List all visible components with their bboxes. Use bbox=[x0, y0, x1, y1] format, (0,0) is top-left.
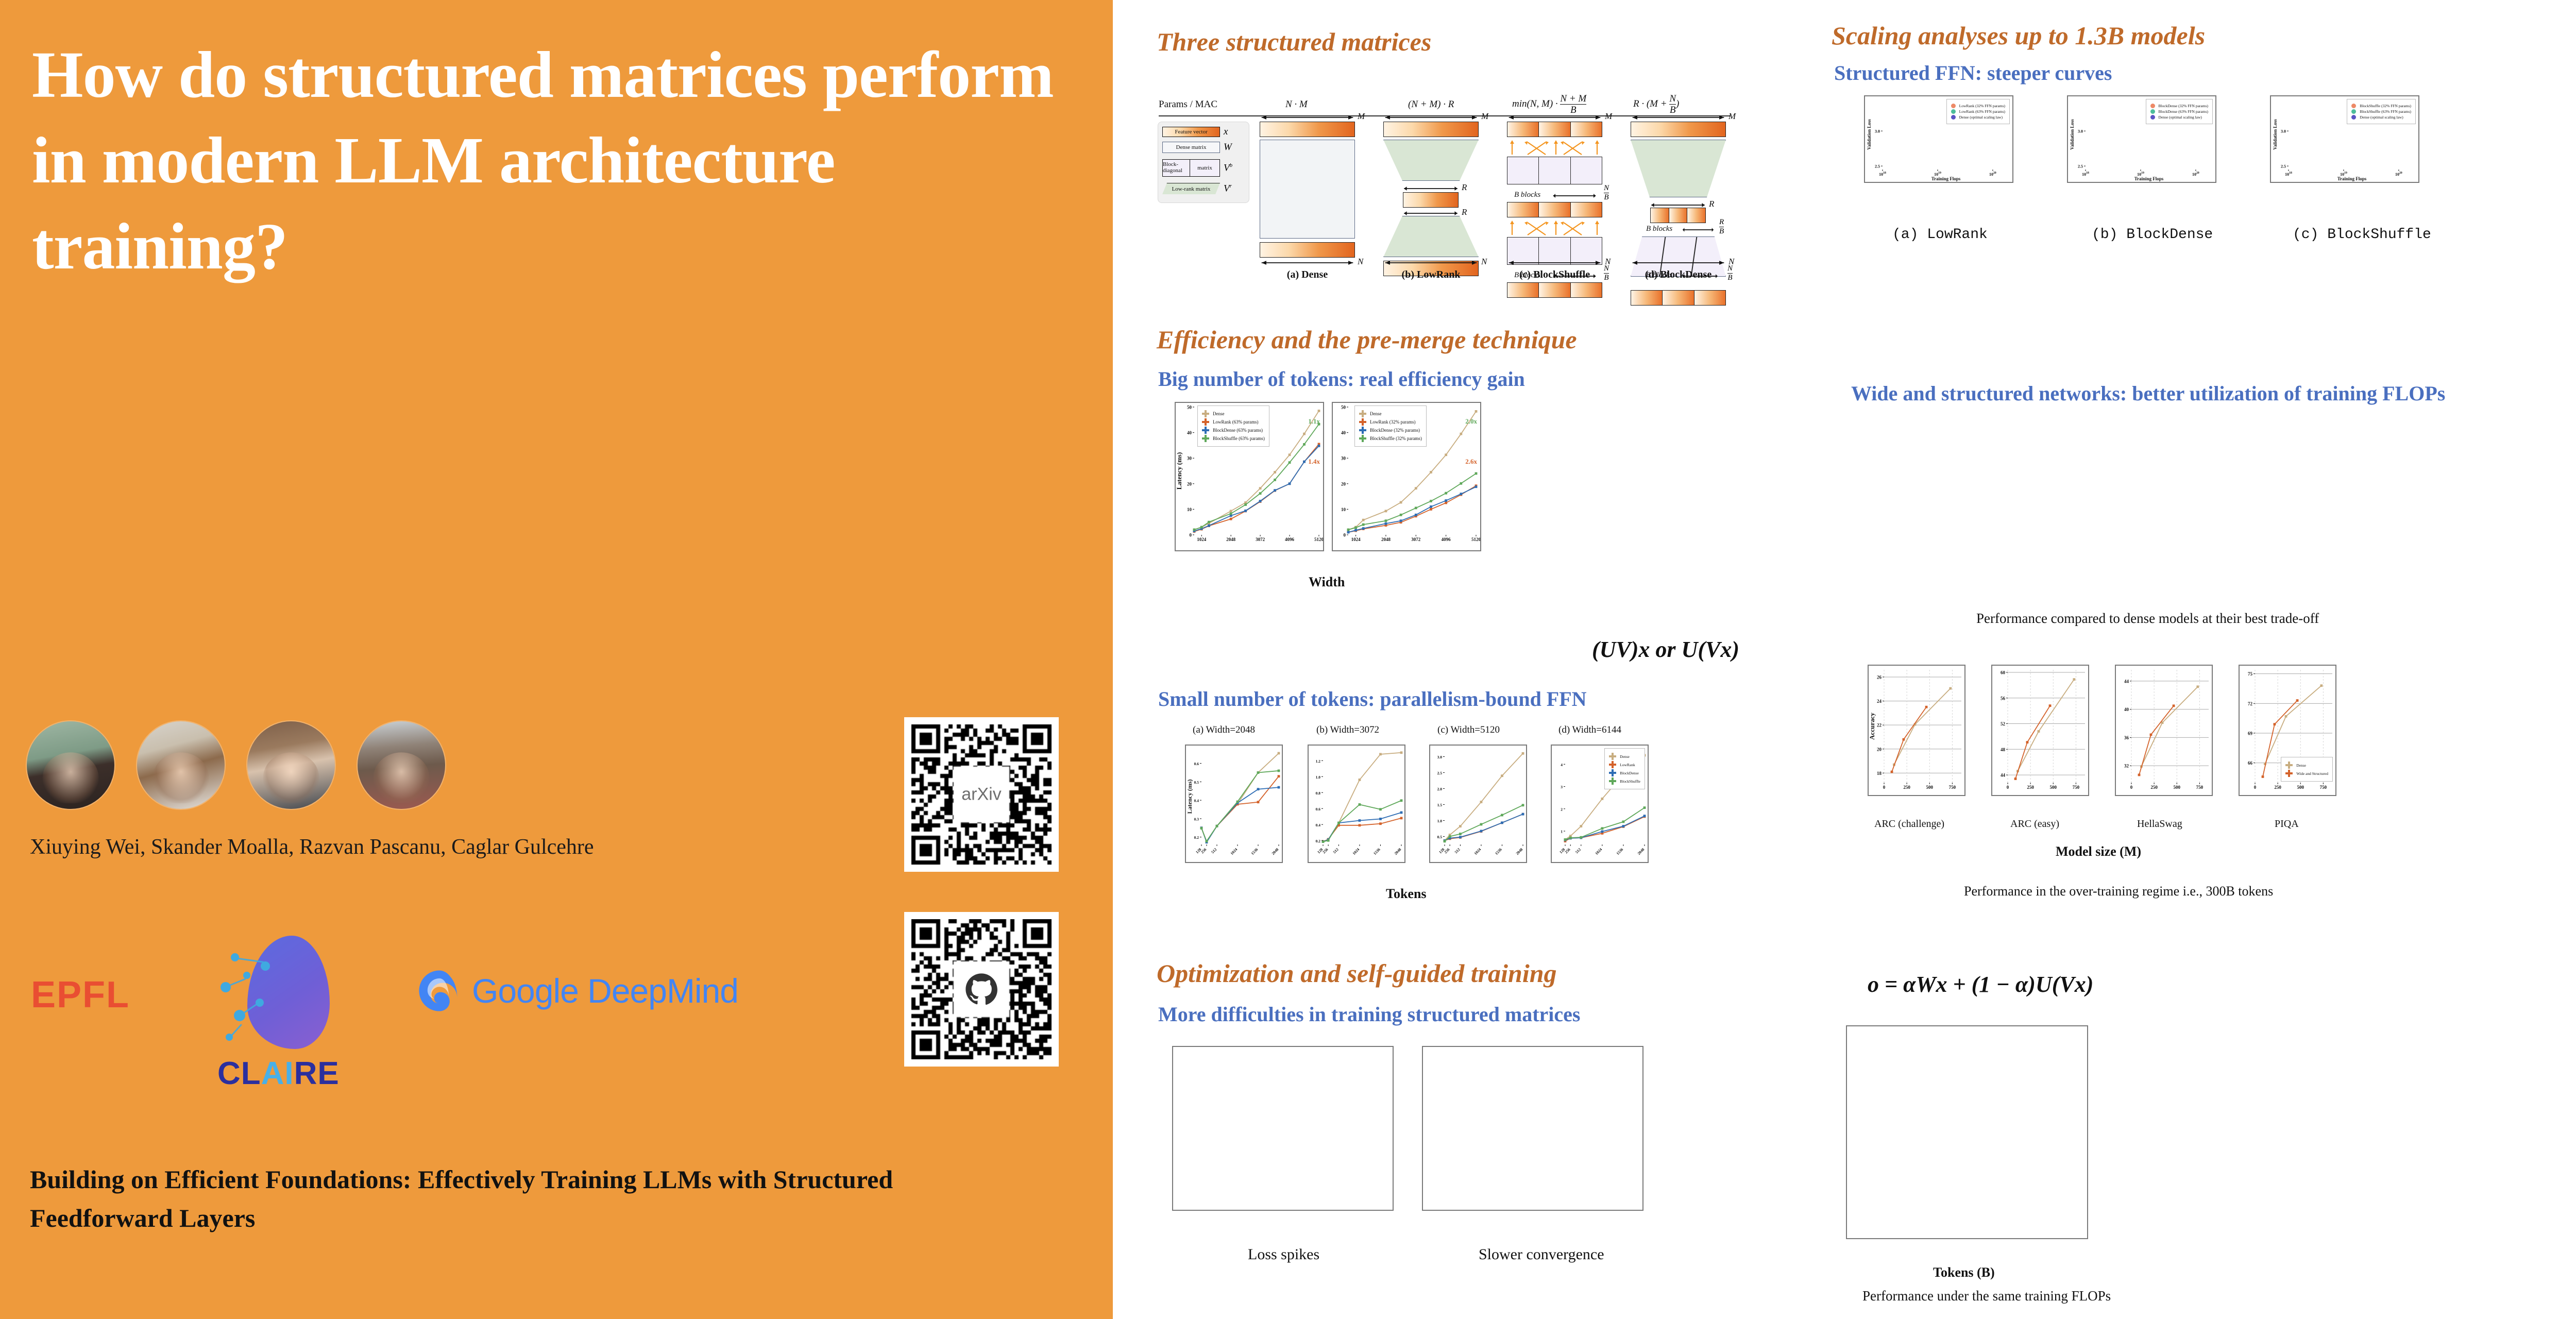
svg-text:4096: 4096 bbox=[1442, 537, 1451, 542]
qr-code-arxiv[interactable]: arXiv bbox=[904, 717, 1059, 872]
axis-label-tokens-b: Tokens (B) bbox=[1933, 1265, 1995, 1280]
caption-lowrank: (b) LowRank bbox=[1383, 269, 1479, 281]
legend-marker bbox=[1609, 753, 1616, 760]
svg-text:500: 500 bbox=[2049, 785, 2057, 790]
legend-marker bbox=[1359, 418, 1366, 426]
svg-text:Latency (ms): Latency (ms) bbox=[1176, 452, 1183, 490]
svg-text:256: 256 bbox=[1321, 847, 1329, 854]
legend-item: Dense bbox=[1359, 410, 1422, 417]
svg-text:10: 10 bbox=[1187, 507, 1192, 512]
axis-label-width: Width bbox=[1309, 574, 1345, 590]
svg-text:32: 32 bbox=[2124, 764, 2129, 769]
svg-text:50: 50 bbox=[1187, 405, 1192, 410]
svg-text:Accuracy: Accuracy bbox=[1869, 713, 1876, 740]
chart-legend: DenseLowRank (32% params)BlockDense (32%… bbox=[1354, 405, 1427, 447]
svg-text:3.0: 3.0 bbox=[1437, 755, 1443, 759]
svg-text:3.0: 3.0 bbox=[2078, 129, 2083, 134]
legend-marker bbox=[1202, 435, 1209, 442]
svg-text:250: 250 bbox=[2150, 785, 2158, 790]
diagram-legend: Feature vector x Dense matrix W Block-di… bbox=[1158, 122, 1249, 203]
chart-scaling-lowrank: 2.53.0101810191020Validation LossTrainin… bbox=[1864, 95, 2013, 183]
svg-text:60: 60 bbox=[2001, 670, 2006, 675]
legend-item: LowRank bbox=[1609, 761, 1640, 768]
svg-text:500: 500 bbox=[2297, 785, 2304, 790]
paper-subtitle: Building on Efficient Foundations: Effec… bbox=[30, 1160, 947, 1238]
svg-text:50: 50 bbox=[1341, 405, 1346, 410]
svg-text:Training Flops: Training Flops bbox=[2134, 176, 2164, 181]
legend-marker bbox=[2150, 115, 2155, 120]
legend-label: Dense (optimal scaling law) bbox=[2360, 115, 2403, 120]
svg-text:Latency (ms): Latency (ms) bbox=[1186, 780, 1193, 814]
legend-label: Dense bbox=[1213, 411, 1225, 416]
legend-label: LowRank (63% FFN params) bbox=[1959, 109, 2005, 114]
svg-text:250: 250 bbox=[1903, 785, 1910, 790]
left-panel: How do structured matrices perform in mo… bbox=[0, 0, 1113, 1319]
matrix-col-dense: M N bbox=[1260, 122, 1370, 258]
author-avatars bbox=[27, 721, 445, 809]
caption-hellaswag: HellaSwag bbox=[2137, 818, 2182, 830]
legend-item: Dense bbox=[1609, 753, 1640, 760]
svg-text:0.6: 0.6 bbox=[1194, 762, 1199, 766]
caption-best-tradeoff: Performance compared to dense models at … bbox=[1976, 611, 2319, 627]
subheading-structured-ffn: Structured FFN: steeper curves bbox=[1834, 61, 2112, 85]
svg-text:4: 4 bbox=[1561, 763, 1563, 767]
arxiv-badge: arXiv bbox=[957, 783, 1005, 807]
chart-legend: LowRank (32% FFN params)LowRank (63% FFN… bbox=[1946, 99, 2010, 124]
legend-item: Wide and Structured bbox=[2285, 770, 2328, 777]
legend-marker bbox=[1202, 410, 1209, 417]
chart-acc-arc-easy: 44485256600250500750 bbox=[1991, 665, 2089, 796]
svg-text:20: 20 bbox=[1877, 747, 1882, 752]
svg-text:750: 750 bbox=[2073, 785, 2080, 790]
svg-text:1024: 1024 bbox=[1473, 847, 1482, 856]
chart-loss-spikes bbox=[1172, 1046, 1394, 1211]
legend-item: BlockShuffle (63% FFN params) bbox=[2351, 109, 2411, 114]
svg-text:20: 20 bbox=[1341, 481, 1346, 486]
svg-text:2.5: 2.5 bbox=[1437, 771, 1443, 775]
legend-marker bbox=[1609, 777, 1616, 785]
section-heading-efficiency: Efficiency and the pre-merge technique bbox=[1157, 325, 1577, 354]
formula-alpha: o = αWx + (1 − α)U(Vx) bbox=[1868, 971, 2093, 997]
legend-marker bbox=[2285, 770, 2293, 777]
chart-annotation: 2.0x bbox=[1465, 417, 1477, 426]
legend-item: LowRank (32% FFN params) bbox=[1951, 104, 2005, 108]
avatar bbox=[247, 721, 335, 809]
claire-logo: CLAIRE bbox=[216, 933, 361, 1087]
legend-label: Dense (optimal scaling law) bbox=[2159, 115, 2202, 120]
svg-text:1.0: 1.0 bbox=[1437, 819, 1443, 823]
svg-text:Validation Loss: Validation Loss bbox=[1867, 119, 1872, 150]
legend-marker bbox=[1951, 109, 1956, 114]
page-title: How do structured matrices perform in mo… bbox=[32, 32, 1057, 289]
legend-label: BlockShuffle (63% params) bbox=[1213, 436, 1265, 441]
svg-text:75: 75 bbox=[2248, 671, 2253, 677]
subheading-difficulties: More difficulties in training structured… bbox=[1158, 1002, 1581, 1026]
caption-dense: (a) Dense bbox=[1260, 269, 1355, 281]
svg-text:500: 500 bbox=[2173, 785, 2180, 790]
deepmind-swirl-icon bbox=[417, 969, 462, 1013]
svg-text:36: 36 bbox=[2124, 735, 2129, 740]
svg-text:512: 512 bbox=[1332, 847, 1339, 854]
svg-text:512: 512 bbox=[1210, 847, 1217, 854]
svg-text:3.0: 3.0 bbox=[1875, 129, 1880, 134]
svg-text:1020: 1020 bbox=[2395, 172, 2402, 177]
qr-code-github[interactable] bbox=[904, 912, 1059, 1067]
chart-legend: DenseWide and Structured bbox=[2281, 757, 2333, 782]
svg-text:0.5: 0.5 bbox=[1437, 835, 1443, 839]
legend-marker bbox=[1359, 410, 1366, 417]
arxiv-label: arXiv bbox=[961, 785, 1001, 805]
legend-label: Dense (optimal scaling law) bbox=[1959, 115, 2003, 120]
subheading-big-tokens: Big number of tokens: real efficiency ga… bbox=[1158, 367, 1525, 391]
legend-label: LowRank (32% FFN params) bbox=[1959, 104, 2005, 108]
legend-label: Dense bbox=[2296, 763, 2306, 768]
chart-acc-arc-challenge: 18202224260250500750Accuracy bbox=[1868, 665, 1965, 796]
svg-text:0.3: 0.3 bbox=[1194, 817, 1199, 821]
legend-item: Dense (optimal scaling law) bbox=[2150, 115, 2208, 120]
legend-label: BlockShuffle bbox=[1620, 779, 1640, 784]
svg-text:2048: 2048 bbox=[1381, 537, 1391, 542]
cost-lowrank: (N + M) · R bbox=[1408, 99, 1454, 110]
axis-label-tokens: Tokens bbox=[1386, 886, 1427, 902]
svg-text:72: 72 bbox=[2248, 701, 2253, 706]
legend-label: LowRank bbox=[1620, 763, 1635, 767]
svg-text:750: 750 bbox=[1949, 785, 1956, 790]
caption-arc-challenge: ARC (challenge) bbox=[1874, 818, 1944, 830]
svg-text:1024: 1024 bbox=[1594, 847, 1603, 856]
legend-marker bbox=[1202, 427, 1209, 434]
legend-item: BlockDense (63% params) bbox=[1202, 427, 1265, 434]
caption-tokens-c: (c) Width=5120 bbox=[1437, 724, 1500, 736]
caption-tokens-b: (b) Width=3072 bbox=[1316, 724, 1379, 736]
claire-wordmark: CLAIRE bbox=[217, 1055, 340, 1092]
svg-text:0: 0 bbox=[2130, 785, 2133, 790]
svg-text:4096: 4096 bbox=[1285, 537, 1295, 542]
svg-text:24: 24 bbox=[1877, 699, 1882, 704]
chart-legend: BlockDense (32% FFN params)BlockDense (6… bbox=[2146, 99, 2213, 124]
legend-label: LowRank (63% params) bbox=[1213, 419, 1258, 425]
github-badge bbox=[959, 969, 1004, 1009]
legend-label: BlockDense (63% FFN params) bbox=[2159, 109, 2208, 114]
svg-text:26: 26 bbox=[1877, 674, 1882, 680]
legend-dense-matrix: Dense matrix W bbox=[1162, 142, 1232, 153]
section-heading-optimization: Optimization and self-guided training bbox=[1157, 958, 1557, 988]
svg-text:1536: 1536 bbox=[1615, 847, 1624, 856]
svg-text:69: 69 bbox=[2248, 731, 2253, 736]
svg-text:0: 0 bbox=[2007, 785, 2009, 790]
svg-text:0.2: 0.2 bbox=[1194, 835, 1199, 840]
svg-text:0: 0 bbox=[2254, 785, 2257, 790]
legend-item: BlockShuffle bbox=[1609, 777, 1640, 785]
legend-marker bbox=[2150, 109, 2155, 114]
chart-tokens-5120: 0.51.01.52.02.53.0128256512102415362048 bbox=[1429, 745, 1527, 863]
legend-item: Dense bbox=[2285, 762, 2328, 769]
legend-label: Dense bbox=[1370, 411, 1382, 416]
legend-marker bbox=[1359, 435, 1366, 442]
svg-text:2.0: 2.0 bbox=[1437, 787, 1443, 791]
avatar bbox=[27, 721, 114, 809]
svg-text:1024: 1024 bbox=[1229, 847, 1238, 856]
legend-marker bbox=[1609, 761, 1616, 768]
structured-matrices-diagram: Params / MAC N · M (N + M) · R min(N, M)… bbox=[1157, 88, 1739, 299]
chart-legend: DenseLowRankBlockDenseBlockShuffle bbox=[1604, 748, 1645, 789]
svg-text:Validation Loss: Validation Loss bbox=[2070, 119, 2075, 150]
chart-latency-63: 0102030405010242048307240965120Latency (… bbox=[1175, 402, 1324, 551]
avatar bbox=[137, 721, 225, 809]
svg-text:512: 512 bbox=[1453, 847, 1461, 854]
cost-blockshuffle: min(N, M) · N + M B bbox=[1512, 94, 1586, 115]
legend-label: BlockDense (32% FFN params) bbox=[2159, 104, 2208, 108]
chart-legend: BlockShuffle (32% FFN params)BlockShuffl… bbox=[2347, 99, 2416, 124]
svg-text:250: 250 bbox=[2274, 785, 2281, 790]
svg-text:10: 10 bbox=[1341, 507, 1346, 512]
svg-text:0.4: 0.4 bbox=[1316, 823, 1321, 827]
chart-perplexity-tokens bbox=[1846, 1025, 2088, 1239]
legend-marker bbox=[1202, 418, 1209, 426]
caption-scaling-c: (c) BlockShuffle bbox=[2293, 227, 2431, 243]
legend-feature-vector: Feature vector x bbox=[1162, 126, 1228, 138]
legend-item: LowRank (32% params) bbox=[1359, 418, 1422, 426]
caption-tokens-d: (d) Width=6144 bbox=[1558, 724, 1621, 736]
chart-annotation: 1.4x bbox=[1308, 458, 1320, 466]
svg-text:3.0: 3.0 bbox=[2281, 129, 2286, 134]
legend-label: Wide and Structured bbox=[2296, 771, 2328, 776]
svg-text:250: 250 bbox=[2027, 785, 2034, 790]
legend-low-rank: Low-rank matrix Vr bbox=[1162, 183, 1232, 194]
svg-text:1536: 1536 bbox=[1372, 847, 1381, 856]
svg-text:3072: 3072 bbox=[1256, 537, 1265, 542]
svg-text:44: 44 bbox=[2001, 773, 2006, 778]
svg-text:1018: 1018 bbox=[2285, 172, 2292, 177]
svg-text:256: 256 bbox=[1443, 847, 1450, 854]
legend-marker bbox=[1359, 427, 1366, 434]
legend-marker bbox=[2285, 762, 2293, 769]
section-heading-scaling: Scaling analyses up to 1.3B models bbox=[1832, 21, 2205, 50]
legend-label: BlockShuffle (32% params) bbox=[1370, 436, 1422, 441]
svg-text:5120: 5120 bbox=[1471, 537, 1480, 542]
subheading-wide-structured: Wide and structured networks: better uti… bbox=[1851, 381, 2445, 405]
svg-text:2048: 2048 bbox=[1393, 847, 1402, 856]
legend-item: BlockDense (32% params) bbox=[1359, 427, 1422, 434]
svg-text:1.2: 1.2 bbox=[1316, 759, 1321, 764]
svg-text:0: 0 bbox=[1883, 785, 1886, 790]
legend-marker bbox=[2351, 109, 2356, 114]
formula-uv: (UV)x or U(Vx) bbox=[1592, 636, 1739, 663]
caption-scaling-b: (b) BlockDense bbox=[2092, 227, 2213, 243]
svg-text:1: 1 bbox=[1561, 830, 1563, 834]
legend-marker bbox=[2351, 115, 2356, 120]
cost-blockdense: R · (M + N B ) bbox=[1633, 94, 1679, 115]
shuffle-arrows-icon bbox=[1507, 218, 1602, 236]
legend-label: BlockDense bbox=[1620, 771, 1639, 775]
svg-text:1536: 1536 bbox=[1494, 847, 1503, 856]
legend-label: BlockShuffle (32% FFN params) bbox=[2360, 104, 2411, 108]
svg-text:30: 30 bbox=[1187, 456, 1192, 461]
svg-text:2048: 2048 bbox=[1515, 847, 1523, 856]
svg-text:44: 44 bbox=[2124, 679, 2129, 684]
svg-text:2048: 2048 bbox=[1226, 537, 1236, 542]
svg-text:2048: 2048 bbox=[1270, 847, 1279, 856]
svg-text:1536: 1536 bbox=[1250, 847, 1259, 856]
svg-text:256: 256 bbox=[1200, 847, 1207, 854]
svg-text:20: 20 bbox=[1187, 481, 1192, 486]
svg-text:2.5: 2.5 bbox=[2281, 164, 2286, 169]
svg-text:500: 500 bbox=[1926, 785, 1933, 790]
svg-text:40: 40 bbox=[2124, 707, 2129, 712]
chart-latency-32: 01020304050102420483072409651202.0x2.6xD… bbox=[1332, 402, 1481, 551]
svg-text:5120: 5120 bbox=[1314, 537, 1323, 542]
caption-scaling-a: (a) LowRank bbox=[1892, 227, 1988, 243]
legend-item: Dense bbox=[1202, 410, 1265, 417]
svg-text:3: 3 bbox=[1561, 785, 1563, 789]
svg-text:256: 256 bbox=[1564, 847, 1571, 854]
section-heading-matrices: Three structured matrices bbox=[1157, 27, 1431, 57]
svg-text:1024: 1024 bbox=[1197, 537, 1207, 542]
svg-text:30: 30 bbox=[1341, 456, 1346, 461]
svg-text:Validation Loss: Validation Loss bbox=[2273, 119, 2278, 150]
right-panel: Three structured matrices Params / MAC N… bbox=[1113, 0, 2576, 1319]
chart-slower-convergence bbox=[1422, 1046, 1643, 1211]
caption-arc-easy: ARC (easy) bbox=[2010, 818, 2059, 830]
legend-marker bbox=[2351, 104, 2356, 108]
svg-text:0.8: 0.8 bbox=[1316, 791, 1321, 796]
deepmind-wordmark: Google DeepMind bbox=[472, 971, 738, 1010]
caption-slower-convergence: Slower convergence bbox=[1479, 1246, 1604, 1263]
chart-tokens-3072: 0.20.40.60.81.01.2128256512102415362048 bbox=[1308, 745, 1405, 863]
svg-text:18: 18 bbox=[1877, 771, 1882, 776]
svg-text:Training Flops: Training Flops bbox=[1931, 176, 1961, 181]
legend-item: BlockShuffle (63% params) bbox=[1202, 435, 1265, 442]
chart-acc-piqa: 666972750250500750DenseWide and Structur… bbox=[2239, 665, 2336, 796]
chart-tokens-2048: 0.20.30.40.50.6128256512102415362048Late… bbox=[1185, 745, 1283, 863]
legend-label: BlockShuffle (63% FFN params) bbox=[2360, 109, 2411, 114]
caption-same-flops: Performance under the same training FLOP… bbox=[1862, 1288, 2111, 1304]
chart-scaling-blockshuffle: 2.53.0101810191020Validation LossTrainin… bbox=[2270, 95, 2419, 183]
legend-label: BlockDense (32% params) bbox=[1370, 428, 1420, 433]
svg-text:56: 56 bbox=[2001, 696, 2006, 701]
github-icon bbox=[963, 971, 999, 1007]
legend-block-diagonal: Block-diagonal matrix Vb bbox=[1162, 159, 1232, 177]
svg-text:1.5: 1.5 bbox=[1437, 803, 1443, 807]
caption-blockshuffle: (c) BlockShuffle bbox=[1507, 269, 1602, 281]
chart-annotation: 1.1x bbox=[1308, 417, 1320, 426]
svg-text:2: 2 bbox=[1561, 807, 1563, 811]
svg-text:22: 22 bbox=[1877, 723, 1882, 728]
svg-text:0.4: 0.4 bbox=[1194, 799, 1199, 803]
chart-annotation: 2.6x bbox=[1465, 458, 1477, 466]
svg-text:2.5: 2.5 bbox=[1875, 164, 1880, 169]
legend-marker bbox=[1951, 104, 1956, 108]
svg-text:750: 750 bbox=[2196, 785, 2204, 790]
chart-scaling-blockdense: 2.53.0101810191020Validation LossTrainin… bbox=[2067, 95, 2216, 183]
logo-row: EPFL CLAIRE bbox=[15, 922, 840, 1087]
legend-item: BlockDense (32% FFN params) bbox=[2150, 104, 2208, 108]
svg-text:1.0: 1.0 bbox=[1316, 775, 1321, 780]
caption-piqa: PIQA bbox=[2275, 818, 2299, 830]
subheading-small-tokens: Small number of tokens: parallelism-boun… bbox=[1158, 687, 1587, 711]
svg-text:1018: 1018 bbox=[2082, 172, 2089, 177]
chart-acc-hellaswag: 323640440250500750 bbox=[2115, 665, 2213, 796]
legend-item: BlockDense bbox=[1609, 769, 1640, 776]
cost-dense: N · M bbox=[1285, 99, 1308, 110]
svg-text:40: 40 bbox=[1187, 430, 1192, 435]
svg-text:1018: 1018 bbox=[1879, 172, 1886, 177]
axis-label-model-size: Model size (M) bbox=[2056, 844, 2141, 859]
svg-text:0.5: 0.5 bbox=[1194, 780, 1199, 785]
author-list: Xiuying Wei, Skander Moalla, Razvan Pasc… bbox=[30, 835, 854, 859]
legend-item: LowRank (63% params) bbox=[1202, 418, 1265, 426]
svg-text:48: 48 bbox=[2001, 747, 2006, 752]
legend-item: Dense (optimal scaling law) bbox=[2351, 115, 2411, 120]
claire-head-icon bbox=[247, 936, 330, 1049]
chart-tokens-6144: 1234128256512102415362048DenseLowRankBlo… bbox=[1551, 745, 1649, 863]
shuffle-arrows-icon bbox=[1507, 138, 1602, 156]
caption-loss-spikes: Loss spikes bbox=[1248, 1246, 1319, 1263]
legend-item: Dense (optimal scaling law) bbox=[1951, 115, 2005, 120]
svg-text:66: 66 bbox=[2248, 760, 2253, 766]
params-mac-label: Params / MAC bbox=[1159, 99, 1217, 110]
svg-text:1024: 1024 bbox=[1351, 537, 1361, 542]
svg-text:512: 512 bbox=[1574, 847, 1582, 854]
google-deepmind-logo: Google DeepMind bbox=[417, 969, 738, 1013]
legend-item: BlockDense (63% FFN params) bbox=[2150, 109, 2208, 114]
legend-marker bbox=[1951, 115, 1956, 120]
svg-text:0.2: 0.2 bbox=[1316, 839, 1321, 843]
epfl-logo: EPFL bbox=[31, 974, 130, 1016]
legend-label: BlockDense (63% params) bbox=[1213, 428, 1263, 433]
poster-root: How do structured matrices perform in mo… bbox=[0, 0, 2576, 1319]
svg-text:0.6: 0.6 bbox=[1316, 807, 1321, 811]
svg-text:2048: 2048 bbox=[1636, 847, 1645, 856]
svg-text:Training Flops: Training Flops bbox=[2337, 176, 2367, 181]
svg-text:2.5: 2.5 bbox=[2078, 164, 2083, 169]
svg-text:3072: 3072 bbox=[1411, 537, 1421, 542]
svg-text:750: 750 bbox=[2320, 785, 2327, 790]
svg-text:52: 52 bbox=[2001, 721, 2006, 726]
legend-label: Dense bbox=[1620, 754, 1630, 759]
avatar bbox=[358, 721, 445, 809]
matrix-col-lowrank: M R R N bbox=[1383, 122, 1494, 276]
caption-tokens-a: (a) Width=2048 bbox=[1193, 724, 1255, 736]
caption-over-training: Performance in the over-training regime … bbox=[1964, 884, 2273, 899]
chart-legend: DenseLowRank (63% params)BlockDense (63%… bbox=[1197, 405, 1269, 447]
svg-text:0: 0 bbox=[1190, 533, 1192, 538]
legend-label: LowRank (32% params) bbox=[1370, 419, 1415, 425]
legend-item: BlockShuffle (32% FFN params) bbox=[2351, 104, 2411, 108]
svg-text:0: 0 bbox=[1344, 533, 1346, 538]
caption-blockdense: (d) BlockDense bbox=[1631, 269, 1726, 281]
legend-marker bbox=[2150, 104, 2155, 108]
legend-item: BlockShuffle (32% params) bbox=[1359, 435, 1422, 442]
svg-text:40: 40 bbox=[1341, 430, 1346, 435]
svg-text:1020: 1020 bbox=[2192, 172, 2199, 177]
svg-text:1024: 1024 bbox=[1351, 847, 1360, 856]
legend-marker bbox=[1609, 769, 1616, 776]
legend-item: LowRank (63% FFN params) bbox=[1951, 109, 2005, 114]
svg-text:1020: 1020 bbox=[1989, 172, 1996, 177]
